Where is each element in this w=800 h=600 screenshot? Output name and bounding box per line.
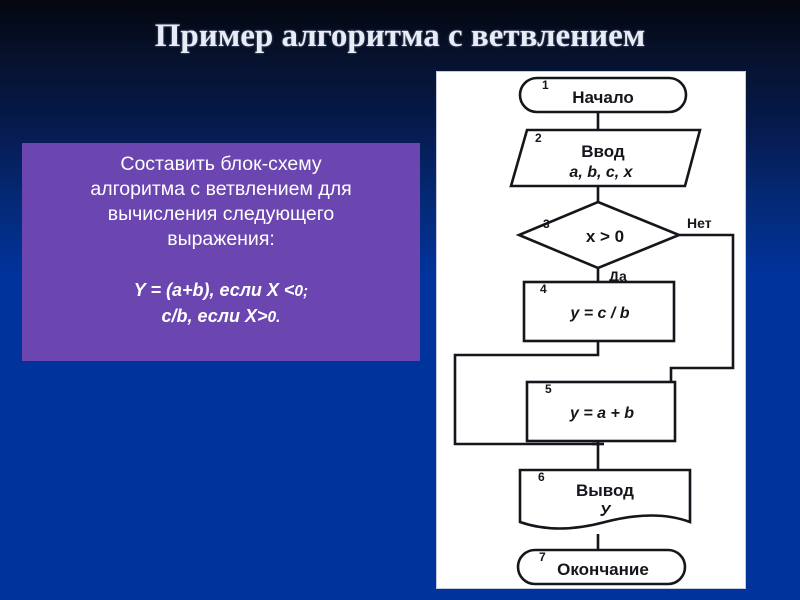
block-label: y = c / b: [569, 305, 629, 322]
task-line: выражения:: [36, 227, 406, 252]
block-label: Начало: [572, 88, 634, 107]
flow-block-2-input: 2 Ввод a, b, c, x: [511, 130, 700, 186]
flow-block-3-decision: 3 x > 0 Нет Да: [519, 202, 712, 284]
flow-block-7-end: 7 Окончание: [518, 550, 685, 584]
spacer: [36, 252, 406, 278]
block-number: 4: [540, 282, 547, 296]
block-number: 6: [538, 470, 545, 484]
formula-line-2: c/b, если X>0.: [36, 304, 406, 330]
presentation-slide: Пример алгоритма с ветвлением Составить …: [0, 0, 800, 600]
block-label-line1: Ввод: [581, 142, 625, 161]
block-label: Окончание: [557, 560, 649, 579]
branch-label-no: Нет: [687, 215, 712, 231]
flowchart-image-panel: 1 Начало 2 Ввод a, b, c, x 3 x > 0 Нет Д…: [437, 72, 745, 588]
flow-block-6-output: 6 Вывод У: [520, 470, 690, 529]
block-number: 1: [542, 78, 549, 92]
block-number: 2: [535, 131, 542, 145]
formula-part: Y = (a+b), если X <: [134, 280, 295, 300]
block-label-line2: a, b, c, x: [569, 164, 633, 181]
task-line: вычисления следующего: [36, 202, 406, 227]
flow-block-5-process: 5 y = a + b: [527, 382, 675, 441]
block-number: 3: [543, 217, 550, 231]
formula-part: 0.: [268, 309, 281, 326]
block-label: x > 0: [586, 227, 624, 246]
task-statement-box: Составить блок-схему алгоритма с ветвлен…: [22, 143, 420, 361]
block-number: 5: [545, 382, 552, 396]
block-label-line2: У: [600, 503, 612, 520]
task-line: Составить блок-схему: [36, 152, 406, 177]
task-line: алгоритма с ветвлением для: [36, 177, 406, 202]
page-title: Пример алгоритма с ветвлением: [0, 18, 800, 55]
flow-block-1-start: 1 Начало: [520, 78, 686, 112]
block-label: y = a + b: [569, 405, 634, 422]
block-number: 7: [539, 550, 546, 564]
formula-part: c/b, если X>: [162, 306, 268, 326]
formula-line-1: Y = (a+b), если X <0;: [36, 278, 406, 304]
block-label-line1: Вывод: [576, 481, 634, 500]
formula-part: 0;: [294, 283, 308, 300]
flow-block-4-process: 4 y = c / b: [524, 282, 674, 341]
